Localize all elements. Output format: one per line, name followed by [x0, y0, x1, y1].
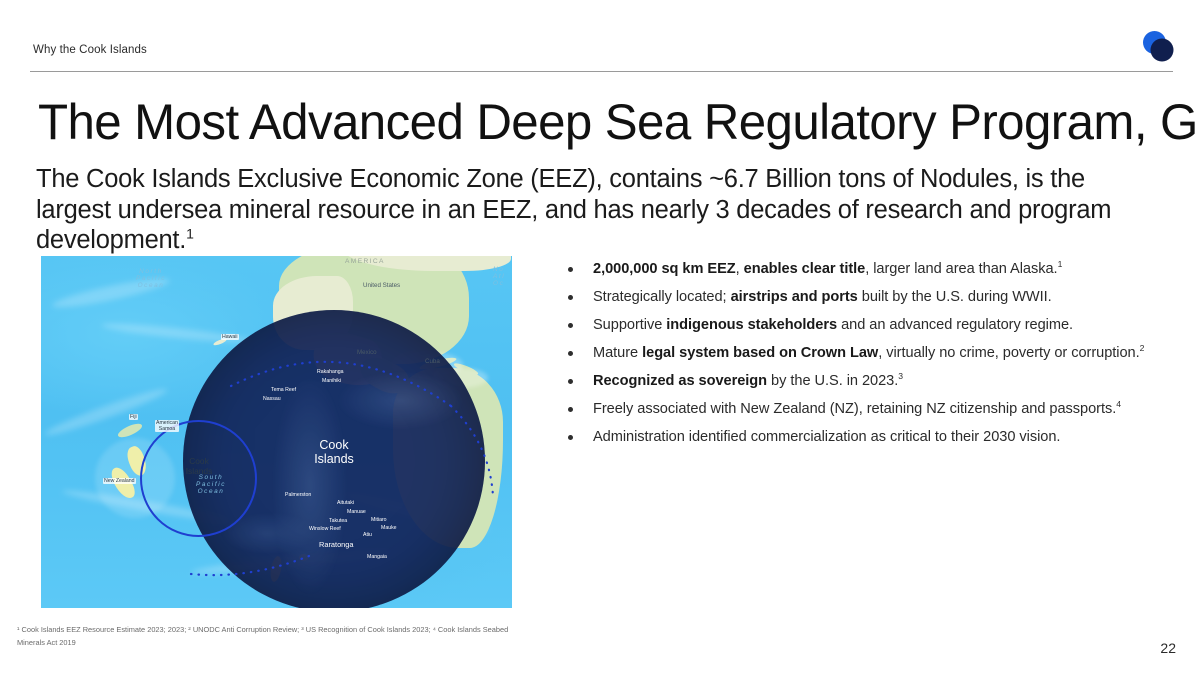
header-eyebrow: Why the Cook Islands — [33, 44, 147, 56]
bullet-dot-icon — [568, 351, 573, 356]
bullet-text: Freely associated with New Zealand (NZ),… — [593, 399, 1121, 419]
bullet-text: Administration identified commercializat… — [593, 427, 1060, 447]
bullet-text: Recognized as sovereign by the U.S. in 2… — [593, 371, 903, 391]
map-label-palmerston: Palmerston — [285, 492, 311, 498]
map-label-mexico: Mexico — [357, 349, 377, 356]
bullet-text: Strategically located; airstrips and por… — [593, 287, 1052, 307]
map-label-manuae: Manuae — [347, 509, 366, 515]
map-label-mangaia: Mangaia — [367, 554, 387, 560]
bullet-dot-icon — [568, 379, 573, 384]
map-label-tema-reef: Tema Reef — [271, 387, 296, 393]
map-label-cook-islands-large: CookIslands — [289, 438, 379, 466]
map-label-american-samoa: AmericanSamoa — [155, 420, 179, 432]
map-label-manihiki: Manihiki — [322, 378, 341, 384]
map-label-mauke: Mauke — [381, 525, 397, 531]
list-item: Administration identified commercializat… — [560, 423, 1180, 451]
pacific-eez-map: NorthPacificOcean SouthPacificOcean NoAt… — [41, 256, 512, 608]
map-label-mitiaro: Mitiaro — [371, 517, 387, 523]
map-label-north-atlantic-ocean: NoAtlOc — [493, 266, 512, 287]
map-label-aitutaki: Aitutaki — [337, 500, 354, 506]
bullet-text: Mature legal system based on Crown Law, … — [593, 343, 1144, 363]
key-points-list: 2,000,000 sq km EEZ, enables clear title… — [560, 255, 1180, 451]
list-item: Freely associated with New Zealand (NZ),… — [560, 395, 1180, 423]
list-item: Recognized as sovereign by the U.S. in 2… — [560, 367, 1180, 395]
map-label-america: AMERICA — [345, 258, 385, 265]
map-label-cook-islands-small: CookIslands — [167, 456, 231, 476]
map-label-new-zealand: New Zealand — [103, 478, 136, 484]
map-label-south-pacific-ocean: SouthPacificOcean — [181, 474, 241, 495]
map-label-hawaii: Hawaii — [221, 334, 239, 340]
slide: Why the Cook Islands The Most Advanced D… — [0, 0, 1200, 675]
header-divider — [30, 71, 1173, 72]
map-label-nassau: Nassau — [263, 396, 281, 402]
map-label-takutea: Takutea — [329, 518, 347, 524]
page-title: The Most Advanced Deep Sea Regulatory Pr… — [38, 91, 1151, 153]
bullet-dot-icon — [568, 295, 573, 300]
list-item: Mature legal system based on Crown Law, … — [560, 339, 1180, 367]
bullet-text: 2,000,000 sq km EEZ, enables clear title… — [593, 259, 1062, 279]
footnotes: ¹ Cook Islands EEZ Resource Estimate 202… — [17, 624, 517, 649]
page-number: 22 — [1160, 640, 1176, 656]
map-label-winslow-reef: Winslow Reef — [309, 526, 341, 532]
page-subtitle-footnote-marker: 1 — [186, 226, 194, 242]
bullet-dot-icon — [568, 323, 573, 328]
list-item: Supportive indigenous stakeholders and a… — [560, 311, 1180, 339]
map-label-rakahanga: Rakahanga — [317, 369, 344, 375]
map-label-united-states: United States — [363, 282, 400, 289]
map-label-raratonga: Raratonga — [319, 540, 354, 549]
page-subtitle-text: The Cook Islands Exclusive Economic Zone… — [36, 165, 1111, 254]
map-label-north-pacific-ocean: NorthPacificOcean — [121, 268, 181, 289]
bullet-text: Supportive indigenous stakeholders and a… — [593, 315, 1073, 335]
map-label-cuba: Cuba — [425, 358, 440, 365]
bullet-dot-icon — [568, 435, 573, 440]
page-subtitle: The Cook Islands Exclusive Economic Zone… — [36, 164, 1146, 256]
company-logo-icon — [1139, 27, 1177, 65]
map-label-atiu: Atiu — [363, 532, 372, 538]
map-label-fiji: Fiji — [129, 414, 138, 420]
list-item: Strategically located; airstrips and por… — [560, 283, 1180, 311]
bullet-dot-icon — [568, 267, 573, 272]
bullet-dot-icon — [568, 407, 573, 412]
list-item: 2,000,000 sq km EEZ, enables clear title… — [560, 255, 1180, 283]
